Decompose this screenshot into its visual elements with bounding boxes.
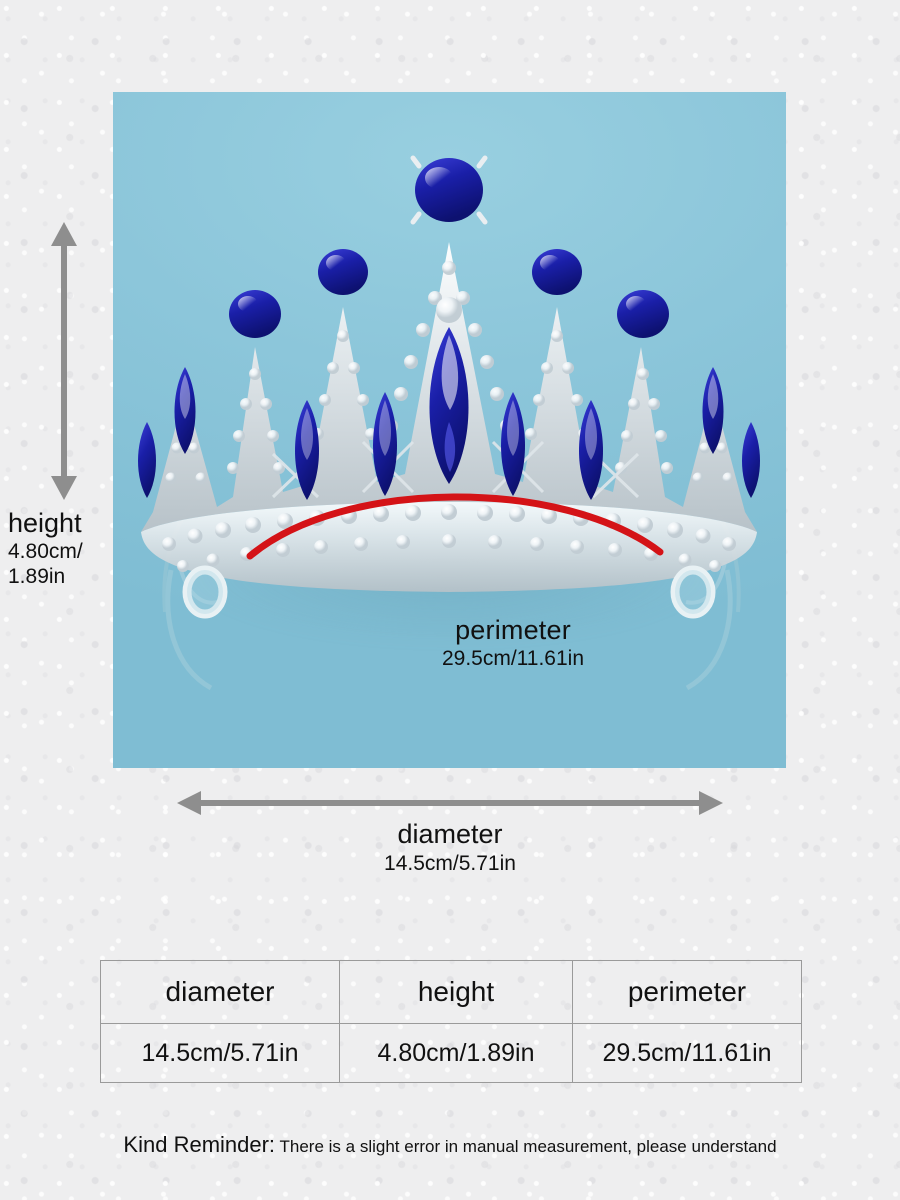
end-loop-left (187, 570, 223, 614)
gem-round-left-inner (318, 249, 368, 295)
perimeter-label-text: perimeter (363, 614, 663, 646)
gem-center-top (413, 158, 485, 222)
height-arrow-icon (40, 220, 88, 502)
perimeter-dimension-label: perimeter 29.5cm/11.61in (363, 614, 663, 672)
table-header-row: diameter height perimeter (101, 961, 802, 1024)
specification-table: diameter height perimeter 14.5cm/5.71in … (100, 960, 802, 1083)
table-header-perimeter: perimeter (573, 961, 802, 1024)
table-header-diameter: diameter (101, 961, 340, 1024)
perimeter-label-value: 29.5cm/11.61in (363, 646, 663, 672)
table-value-diameter: 14.5cm/5.71in (101, 1024, 340, 1083)
height-label-text: height (8, 508, 118, 539)
diameter-arrow-icon (175, 788, 725, 818)
product-photo: perimeter 29.5cm/11.61in (113, 92, 786, 768)
diameter-label-text: diameter (175, 818, 725, 851)
table-header-height: height (340, 961, 573, 1024)
kind-reminder: Kind Reminder: There is a slight error i… (0, 1132, 900, 1158)
gem-round-right-inner (532, 249, 582, 295)
height-dimension-label: height 4.80cm/ 1.89in (8, 508, 118, 589)
gem-round-left-outer (229, 290, 281, 338)
kind-reminder-body: There is a slight error in manual measur… (280, 1137, 777, 1156)
gem-round-right-outer (617, 290, 669, 338)
table-value-row: 14.5cm/5.71in 4.80cm/1.89in 29.5cm/11.61… (101, 1024, 802, 1083)
diameter-dimension-label: diameter 14.5cm/5.71in (175, 818, 725, 877)
table-value-perimeter: 29.5cm/11.61in (573, 1024, 802, 1083)
end-loop-right (675, 570, 711, 614)
kind-reminder-lead: Kind Reminder: (123, 1132, 275, 1157)
table-value-height: 4.80cm/1.89in (340, 1024, 573, 1083)
height-label-value-in: 1.89in (8, 564, 118, 589)
diameter-label-value: 14.5cm/5.71in (175, 851, 725, 877)
height-label-value-cm: 4.80cm/ (8, 539, 118, 564)
